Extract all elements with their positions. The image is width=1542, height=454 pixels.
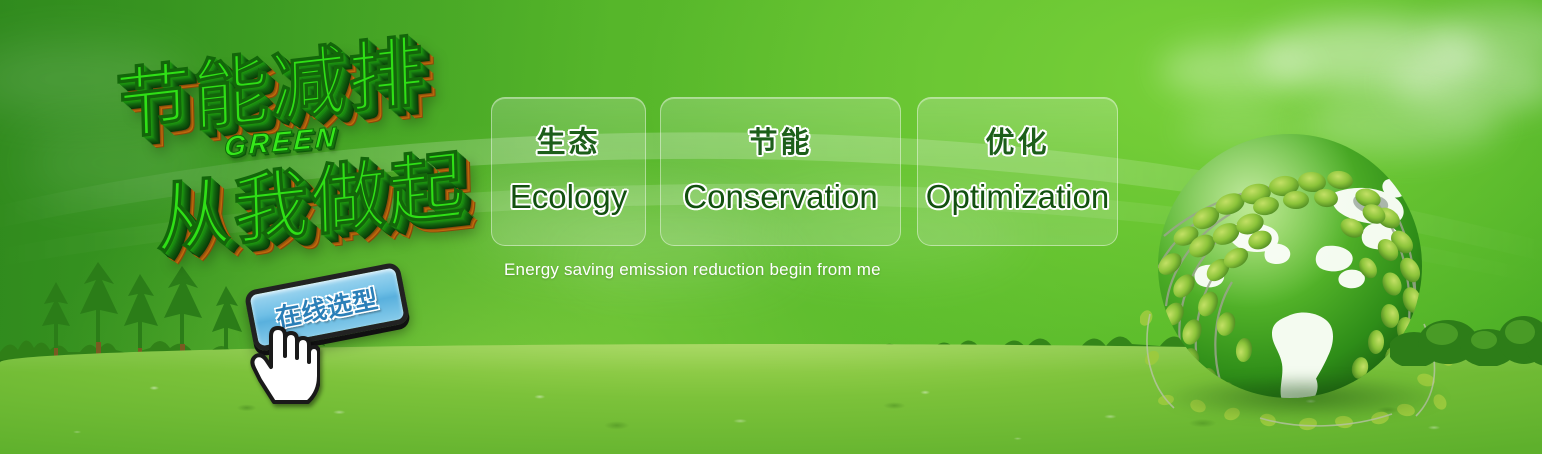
feature-card-en-label: Ecology xyxy=(510,180,627,215)
feature-card-optimization[interactable]: 优化 Optimization xyxy=(917,97,1118,246)
globe-shadow xyxy=(1162,374,1446,420)
banner-tagline: Energy saving emission reduction begin f… xyxy=(504,260,881,280)
feature-card-en-label: Conservation xyxy=(683,180,877,215)
pointer-hand-cursor-icon xyxy=(248,322,320,404)
feature-card-cn-label: 节能 xyxy=(748,128,812,160)
hero-title-art: 节能减排 GREEN 从我做起 xyxy=(96,38,496,268)
feature-card-cn-label: 优化 xyxy=(985,128,1049,160)
eco-banner: 节能减排 GREEN 从我做起 在线选型 生态 Ecology 节能 Conse… xyxy=(0,0,1542,454)
online-selection-cta[interactable]: 在线选型 xyxy=(248,276,428,386)
feature-card-ecology[interactable]: 生态 Ecology xyxy=(491,97,646,246)
feature-card-cn-label: 生态 xyxy=(536,128,600,160)
leafy-green-globe-icon xyxy=(1140,118,1460,438)
feature-card-en-label: Optimization xyxy=(926,180,1109,215)
feature-card-conservation[interactable]: 节能 Conservation xyxy=(660,97,901,246)
shrub-cluster-icon xyxy=(1390,296,1542,366)
